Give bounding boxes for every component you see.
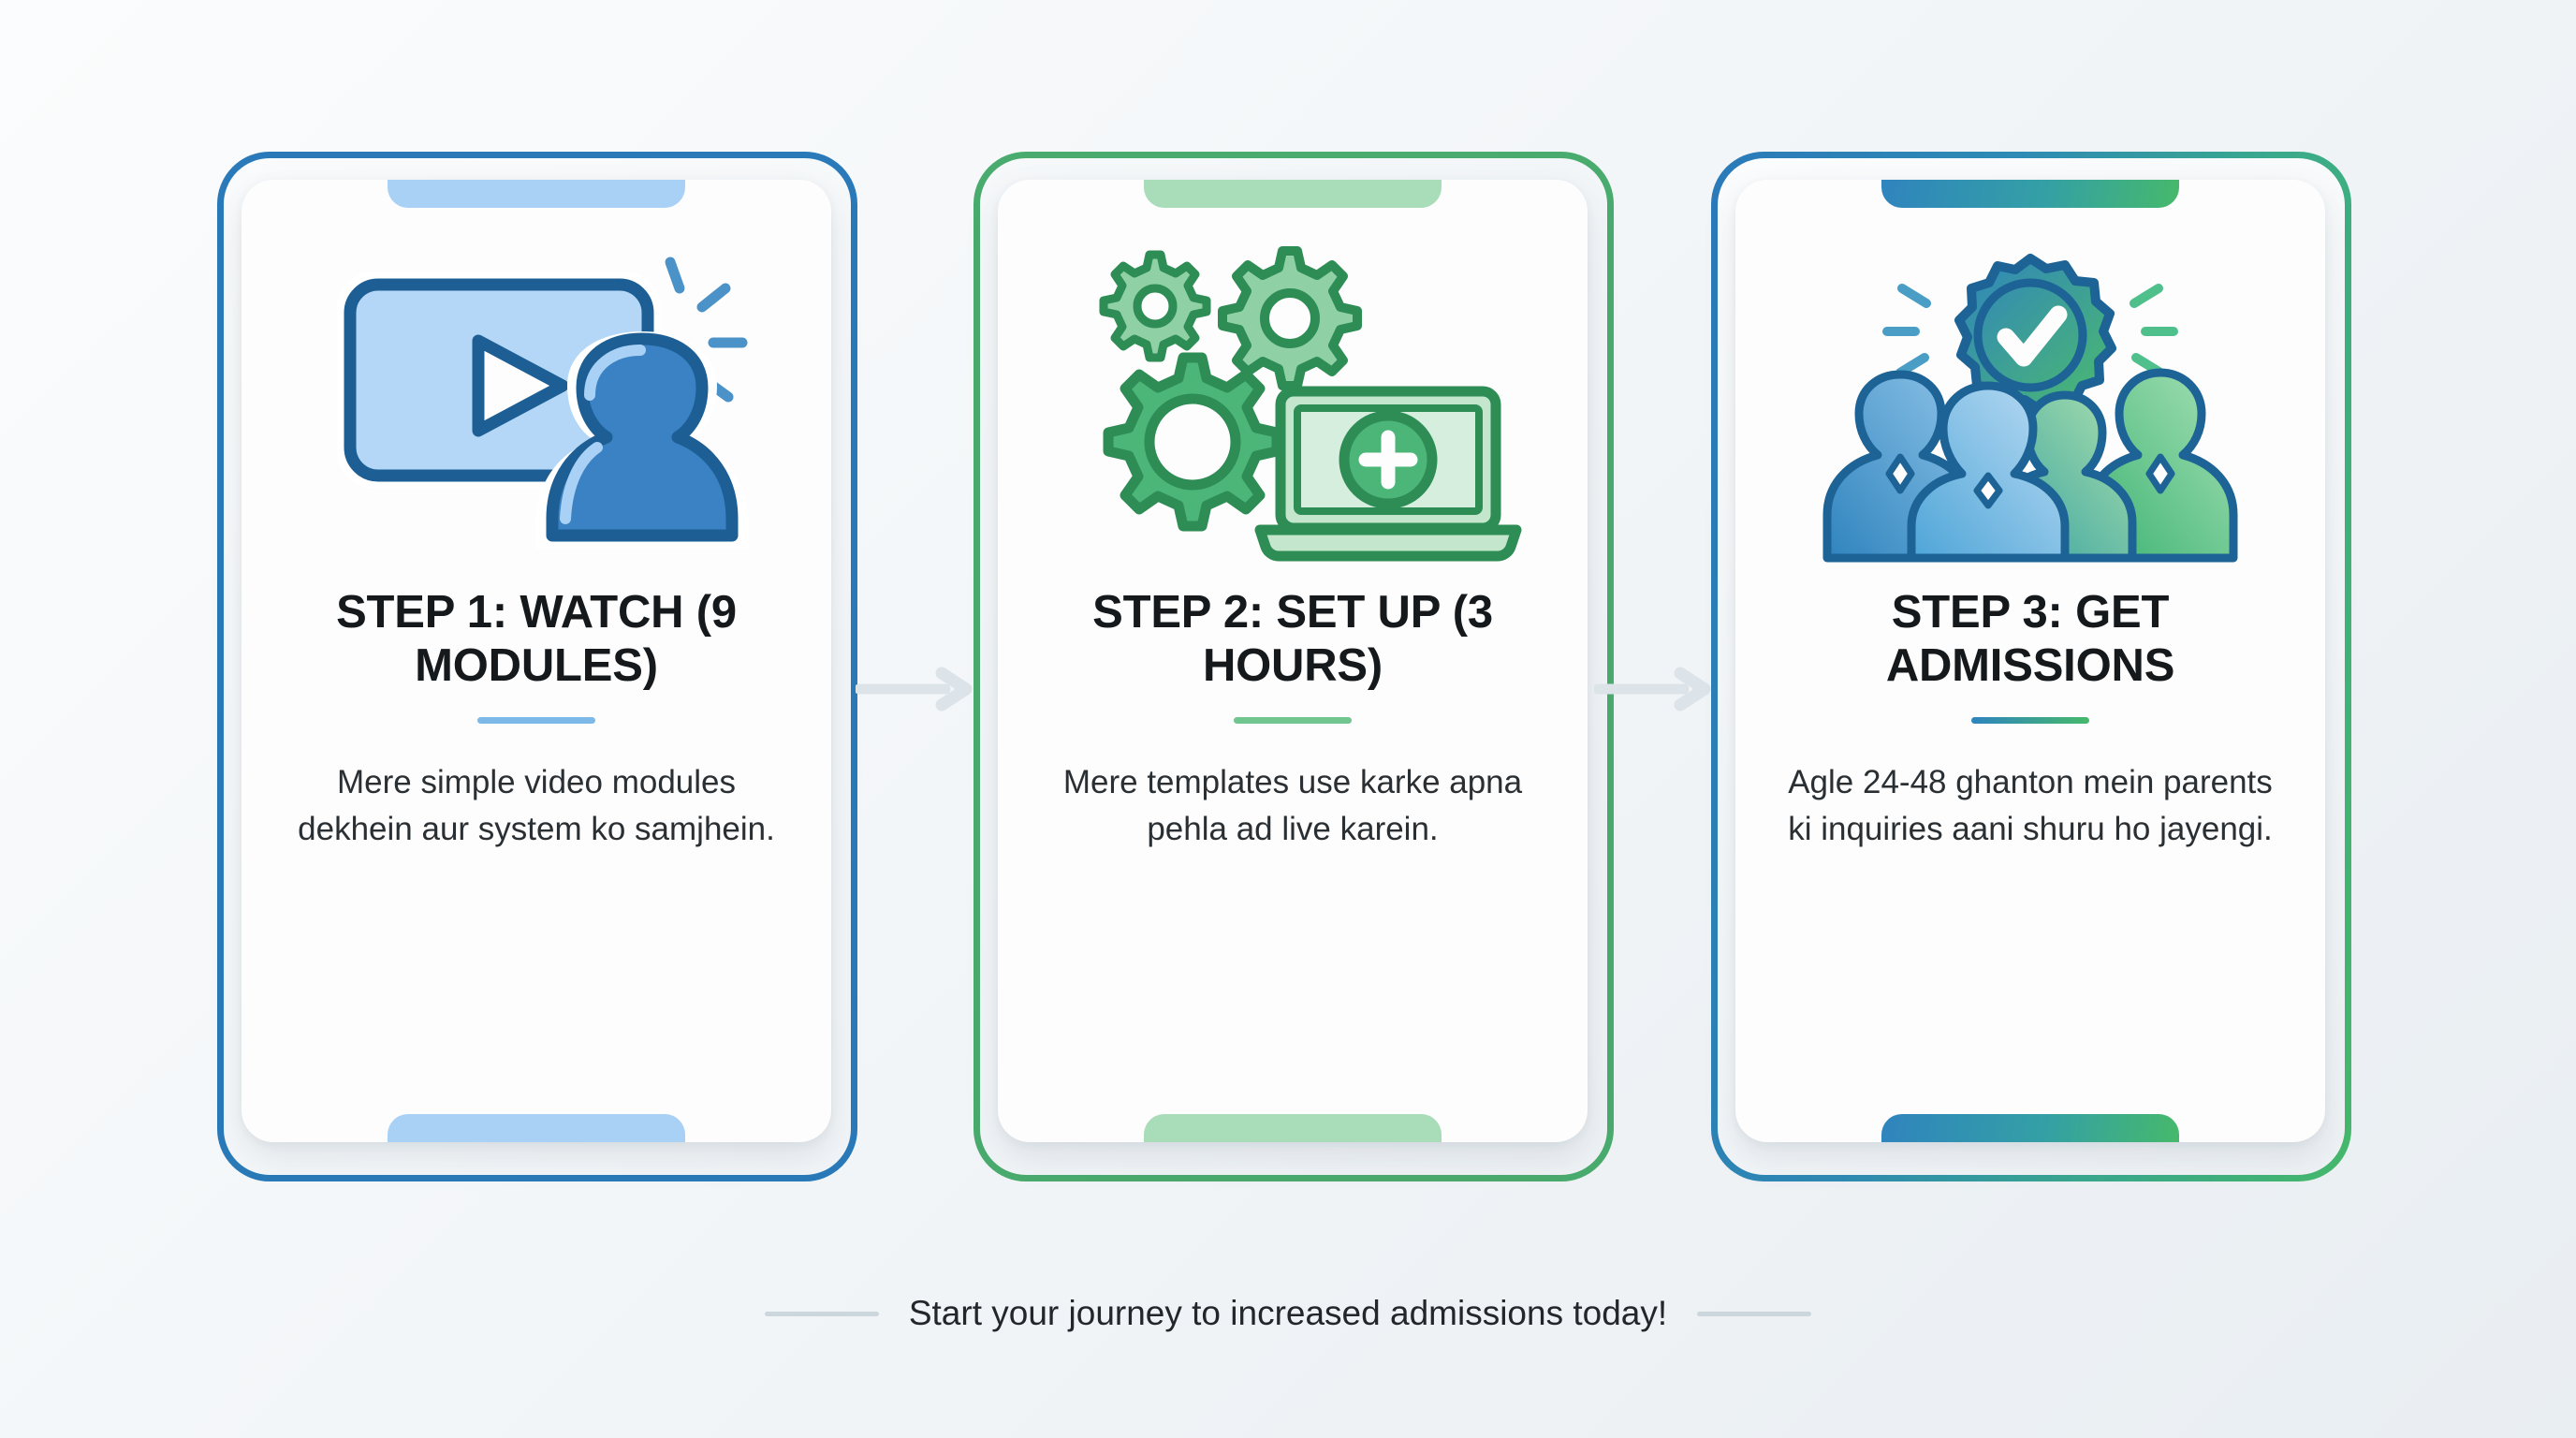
- title-divider: [1971, 717, 2089, 724]
- step-description: Mere templates use karke apna pehla ad l…: [1049, 759, 1536, 855]
- infographic-canvas: STEP 1: WATCH (9 MODULES) Mere simple vi…: [0, 0, 2576, 1438]
- verified-badge-with-people-icon: [1810, 249, 2250, 558]
- arrow-step2-to-step3: [1594, 667, 1712, 712]
- step-description: Agle 24-48 ghanton mein parents ki inqui…: [1787, 759, 2274, 855]
- step-description: Mere simple video modules dekhein aur sy…: [293, 759, 780, 855]
- step-title: STEP 3: GET ADMISSIONS: [1796, 586, 2264, 693]
- step-card-2[interactable]: STEP 2: SET UP (3 HOURS) Mere templates …: [998, 180, 1588, 1142]
- step-title: STEP 2: SET UP (3 HOURS): [1059, 586, 1527, 693]
- card-top-notch: [1881, 180, 2179, 208]
- card-top-notch: [1144, 180, 1442, 208]
- step-card-1[interactable]: STEP 1: WATCH (9 MODULES) Mere simple vi…: [241, 180, 831, 1142]
- footer-rule-right: [1697, 1312, 1811, 1316]
- card-top-notch: [388, 180, 685, 208]
- title-divider: [1234, 717, 1352, 724]
- card-bottom-notch: [1144, 1114, 1442, 1142]
- step-title: STEP 1: WATCH (9 MODULES): [302, 586, 770, 693]
- footer: Start your journey to increased admissio…: [0, 1294, 2576, 1333]
- card-bottom-notch: [388, 1114, 685, 1142]
- gears-and-laptop-icon: [1073, 249, 1513, 558]
- footer-text: Start your journey to increased admissio…: [909, 1294, 1667, 1333]
- footer-rule-left: [765, 1312, 879, 1316]
- card-bottom-notch: [1881, 1114, 2179, 1142]
- arrow-step1-to-step2: [856, 667, 973, 712]
- step-card-3[interactable]: STEP 3: GET ADMISSIONS Agle 24-48 ghanto…: [1735, 180, 2325, 1142]
- video-player-with-viewer-icon: [316, 249, 756, 558]
- title-divider: [477, 717, 595, 724]
